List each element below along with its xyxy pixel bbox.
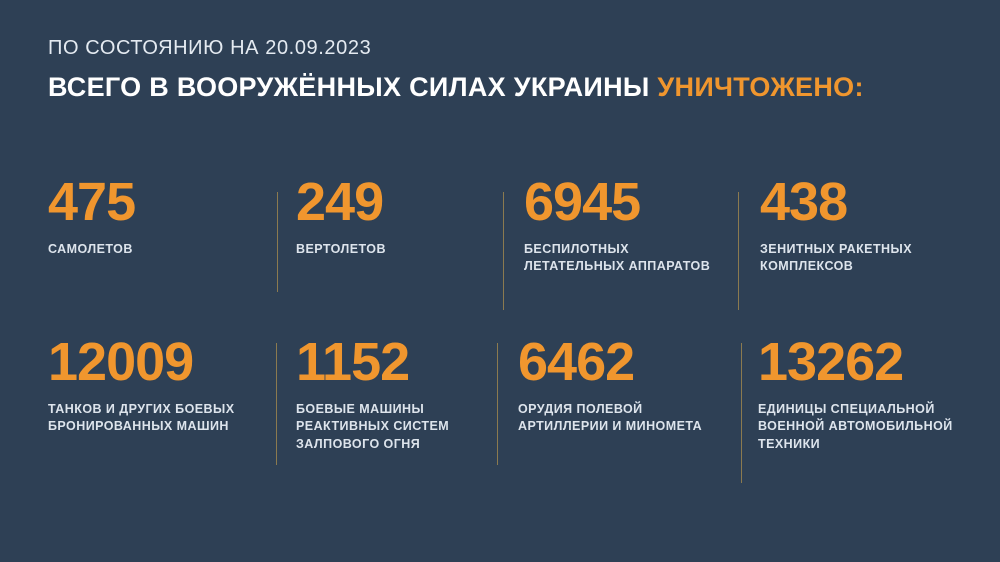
cell-divider: [738, 192, 739, 310]
page-title-accent: УНИЧТОЖЕНО:: [657, 72, 863, 102]
stat-label: ЕДИНИЦЫ СПЕЦИАЛЬНОЙ ВОЕННОЙ АВТОМОБИЛЬНО…: [758, 401, 953, 453]
stat-card-tanks: 12009 ТАНКОВ И ДРУГИХ БОЕВЫХ БРОНИРОВАНН…: [48, 335, 235, 436]
infographic-page: ПО СОСТОЯНИЮ НА 20.09.2023 ВСЕГО В ВООРУ…: [0, 0, 1000, 562]
stats-grid: 475 САМОЛЕТОВ 249 ВЕРТОЛЕТОВ 6945 БЕСПИЛ…: [0, 175, 1000, 495]
stat-label: САМОЛЕТОВ: [48, 241, 135, 258]
stat-card-sam-systems: 438 ЗЕНИТНЫХ РАКЕТНЫХ КОМПЛЕКСОВ: [760, 175, 912, 276]
stat-card-helicopters: 249 ВЕРТОЛЕТОВ: [296, 175, 386, 258]
stat-value: 1152: [296, 335, 449, 389]
cell-divider: [741, 343, 742, 483]
stat-card-mlrs: 1152 БОЕВЫЕ МАШИНЫ РЕАКТИВНЫХ СИСТЕМ ЗАЛ…: [296, 335, 449, 453]
cell-divider: [497, 343, 498, 465]
stat-label: ОРУДИЯ ПОЛЕВОЙ АРТИЛЛЕРИИ И МИНОМЕТА: [518, 401, 702, 436]
stat-card-artillery: 6462 ОРУДИЯ ПОЛЕВОЙ АРТИЛЛЕРИИ И МИНОМЕТ…: [518, 335, 702, 436]
stat-card-drones: 6945 БЕСПИЛОТНЫХ ЛЕТАТЕЛЬНЫХ АППАРАТОВ: [524, 175, 710, 276]
cell-divider: [276, 343, 277, 465]
stats-row-2: 12009 ТАНКОВ И ДРУГИХ БОЕВЫХ БРОНИРОВАНН…: [0, 335, 1000, 495]
stat-label: ЗЕНИТНЫХ РАКЕТНЫХ КОМПЛЕКСОВ: [760, 241, 912, 276]
stat-card-military-vehicles: 13262 ЕДИНИЦЫ СПЕЦИАЛЬНОЙ ВОЕННОЙ АВТОМО…: [758, 335, 953, 453]
page-title: ВСЕГО В ВООРУЖЁННЫХ СИЛАХ УКРАИНЫ УНИЧТО…: [48, 73, 958, 101]
cell-divider: [503, 192, 504, 310]
date-kicker: ПО СОСТОЯНИЮ НА 20.09.2023: [48, 38, 958, 58]
stat-value: 13262: [758, 335, 953, 389]
stat-card-aircraft: 475 САМОЛЕТОВ: [48, 175, 135, 258]
stat-label: БОЕВЫЕ МАШИНЫ РЕАКТИВНЫХ СИСТЕМ ЗАЛПОВОГ…: [296, 401, 449, 453]
stat-value: 12009: [48, 335, 235, 389]
stat-value: 438: [760, 175, 912, 229]
header: ПО СОСТОЯНИЮ НА 20.09.2023 ВСЕГО В ВООРУ…: [48, 38, 958, 101]
cell-divider: [277, 192, 278, 292]
page-title-main: ВСЕГО В ВООРУЖЁННЫХ СИЛАХ УКРАИНЫ: [48, 72, 657, 102]
stat-value: 6462: [518, 335, 702, 389]
stat-label: БЕСПИЛОТНЫХ ЛЕТАТЕЛЬНЫХ АППАРАТОВ: [524, 241, 710, 276]
stat-value: 6945: [524, 175, 710, 229]
stat-label: ТАНКОВ И ДРУГИХ БОЕВЫХ БРОНИРОВАННЫХ МАШ…: [48, 401, 235, 436]
stat-value: 475: [48, 175, 135, 229]
stat-label: ВЕРТОЛЕТОВ: [296, 241, 386, 258]
stats-row-1: 475 САМОЛЕТОВ 249 ВЕРТОЛЕТОВ 6945 БЕСПИЛ…: [0, 175, 1000, 335]
stat-value: 249: [296, 175, 386, 229]
